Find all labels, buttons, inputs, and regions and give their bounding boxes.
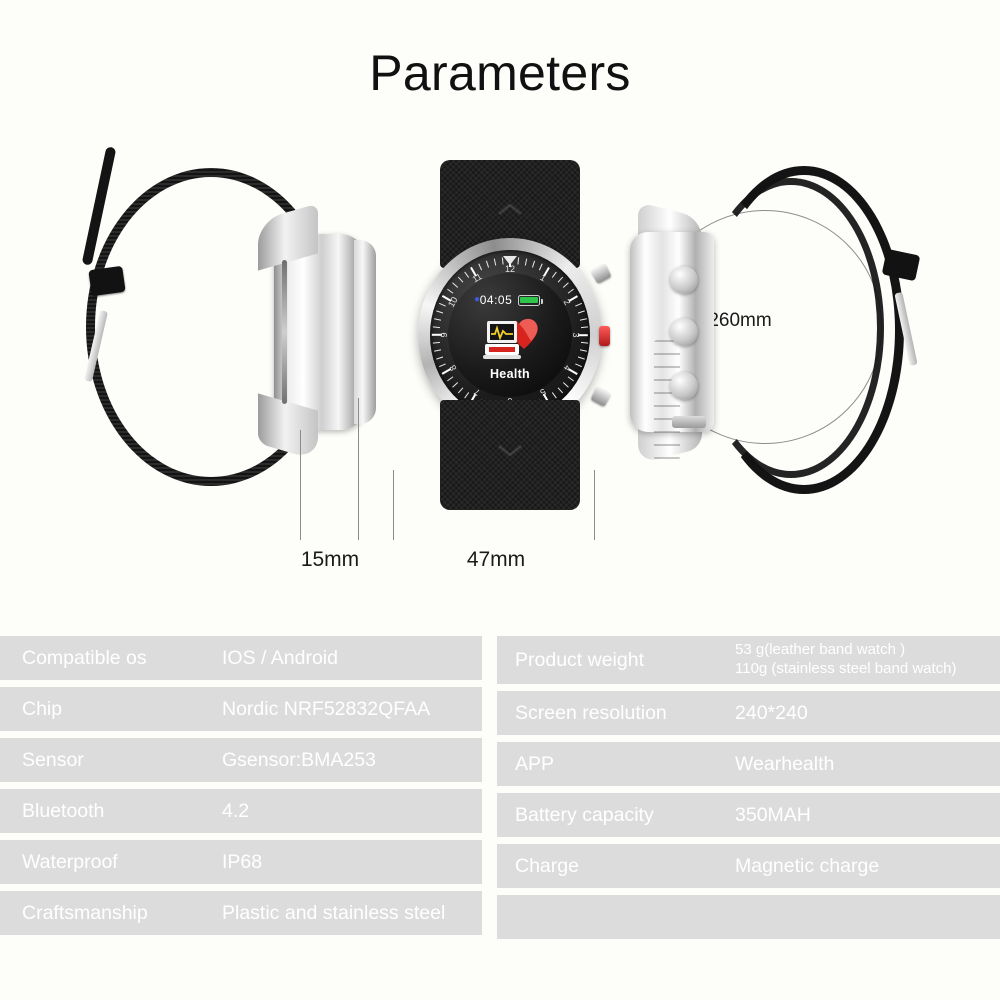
leader-line-15mm-left xyxy=(300,430,301,540)
spec-row: Product weight53 g(leather band watch ) … xyxy=(497,636,1000,684)
spec-row: CraftsmanshipPlastic and stainless steel xyxy=(0,891,482,935)
side-button-1[interactable] xyxy=(670,266,698,294)
watch-time: 04:05 xyxy=(480,293,513,307)
side-button-3[interactable] xyxy=(670,372,698,400)
product-image-right-side-view: 260mm xyxy=(612,160,942,510)
case-rim xyxy=(354,240,376,424)
crown-button[interactable] xyxy=(599,326,610,346)
spec-row: Compatible osIOS / Android xyxy=(0,636,482,680)
page-title: Parameters xyxy=(0,44,1000,102)
chevron-down-icon xyxy=(497,444,523,457)
case-groove xyxy=(282,260,287,404)
bottom-side-button[interactable] xyxy=(590,386,611,407)
band-keeper xyxy=(88,266,125,296)
spec-key: Screen resolution xyxy=(515,702,667,725)
spec-key: Charge xyxy=(515,855,579,878)
spec-key: Waterproof xyxy=(22,851,118,874)
case-engraving xyxy=(654,340,680,460)
battery-icon xyxy=(518,295,540,306)
spec-key: Craftsmanship xyxy=(22,902,148,925)
spec-row xyxy=(497,895,1000,939)
spec-key: Sensor xyxy=(22,749,84,772)
strap-lower xyxy=(440,400,580,510)
top-side-button[interactable] xyxy=(590,263,611,284)
spec-table-right-column: Product weight53 g(leather band watch ) … xyxy=(497,636,1000,946)
band-loop-inner xyxy=(698,178,884,478)
spec-key: Chip xyxy=(22,698,62,721)
spec-value: Gsensor:BMA253 xyxy=(222,749,376,771)
spec-table-left-column: Compatible osIOS / AndroidChipNordic NRF… xyxy=(0,636,482,942)
product-image-front-view: 123456789101112 ● 04:05 xyxy=(418,160,598,510)
spec-row: WaterproofIP68 xyxy=(0,840,482,884)
watch-case-side-profile xyxy=(274,234,366,430)
product-image-left-side-view xyxy=(78,160,388,510)
screen-status-bar: 04:05 xyxy=(448,293,572,307)
spec-row: ChargeMagnetic charge xyxy=(497,844,1000,888)
spec-value: Wearhealth xyxy=(735,753,834,775)
spec-value: 53 g(leather band watch ) 110g (stainles… xyxy=(735,641,957,679)
dimension-label-47mm: 47mm xyxy=(444,548,548,572)
spec-row: Screen resolution240*240 xyxy=(497,691,1000,735)
spec-key: Product weight xyxy=(515,649,644,672)
spec-value: IOS / Android xyxy=(222,647,338,669)
case-bottom-plate xyxy=(672,416,706,428)
spec-value: 240*240 xyxy=(735,702,808,724)
leader-line-47mm-left xyxy=(393,470,394,540)
chevron-up-icon xyxy=(497,203,523,216)
spec-key: APP xyxy=(515,753,554,776)
spec-value: 350MAH xyxy=(735,804,811,826)
bezel-top-marker xyxy=(503,256,517,265)
watch-screen[interactable]: ● 04:05 Health xyxy=(448,273,572,397)
spec-row: SensorGsensor:BMA253 xyxy=(0,738,482,782)
side-button-2[interactable] xyxy=(670,318,698,346)
spec-value: Magnetic charge xyxy=(735,855,879,877)
spec-row: APPWearhealth xyxy=(497,742,1000,786)
spec-value: IP68 xyxy=(222,851,262,873)
spec-row: ChipNordic NRF52832QFAA xyxy=(0,687,482,731)
watch-bezel: 123456789101112 ● 04:05 xyxy=(430,250,590,420)
dimension-label-15mm: 15mm xyxy=(278,548,382,572)
spec-value: Nordic NRF52832QFAA xyxy=(222,698,430,720)
spec-row: Bluetooth4.2 xyxy=(0,789,482,833)
leader-line-47mm-right xyxy=(594,470,595,540)
leader-line-15mm-right xyxy=(358,398,359,540)
heart-ecg-monitor-icon xyxy=(479,317,545,361)
spec-value: Plastic and stainless steel xyxy=(222,902,445,924)
spec-key: Compatible os xyxy=(22,647,147,670)
spec-key: Bluetooth xyxy=(22,800,104,823)
spec-key: Battery capacity xyxy=(515,804,654,827)
product-spec-page: Parameters 123456789101112 ● xyxy=(0,0,1000,1000)
spec-row: Battery capacity350MAH xyxy=(497,793,1000,837)
spec-value: 4.2 xyxy=(222,800,249,822)
watch-app-label: Health xyxy=(448,367,572,381)
